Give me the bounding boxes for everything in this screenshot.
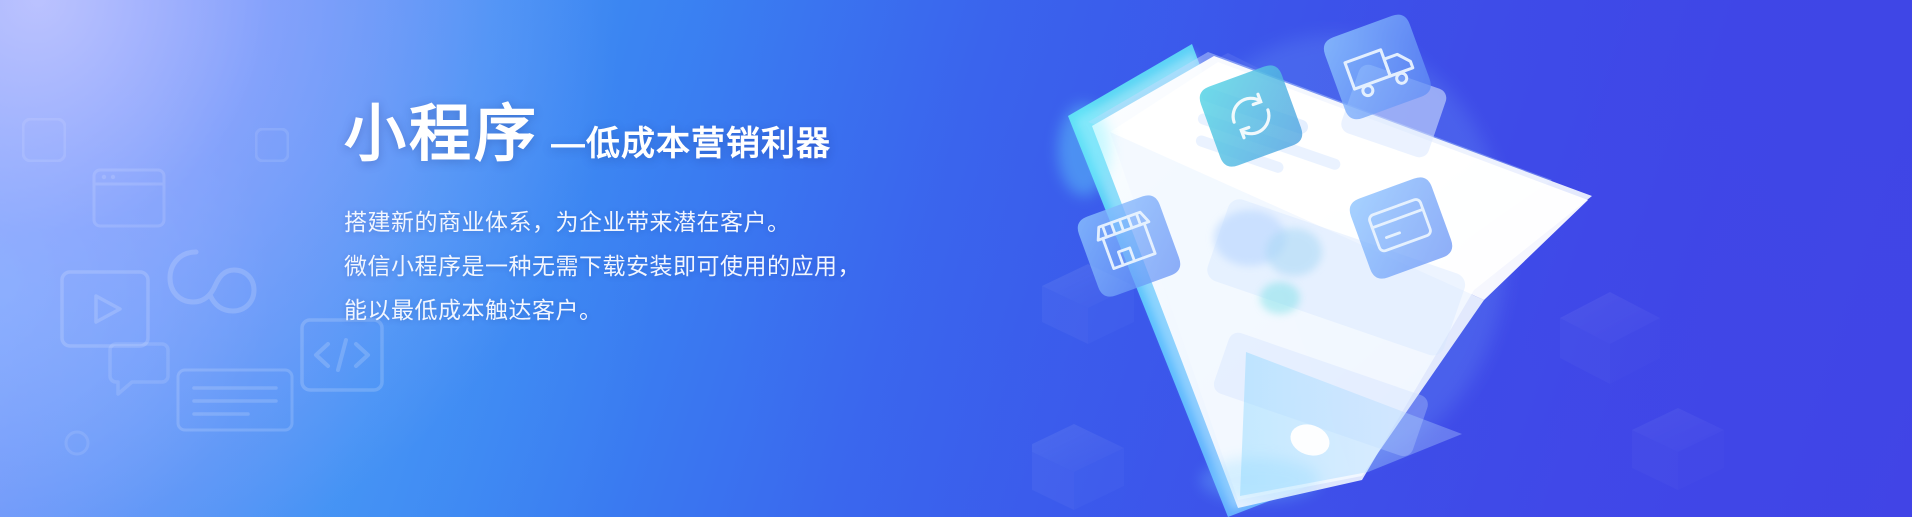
description-line: 搭建新的商业体系，为企业带来潜在客户。 — [344, 200, 964, 244]
description-line: 微信小程序是一种无需下载安装即可使用的应用， — [344, 244, 964, 288]
decorative-cube — [1632, 408, 1724, 490]
screen-content — [1194, 62, 1449, 174]
screen-content — [1211, 330, 1430, 459]
decorative-cube — [1560, 292, 1660, 384]
video-card-icon — [60, 270, 150, 348]
decorative-dot-icon — [64, 430, 90, 456]
card-receipt-icon — [1346, 174, 1456, 282]
decorative-square-icon — [22, 118, 66, 162]
title-main: 小程序 — [344, 104, 539, 166]
list-lines-icon — [176, 368, 294, 432]
mini-program-logo-icon — [152, 218, 272, 338]
storefront-icon — [1074, 192, 1184, 300]
description-line: 能以最低成本触达客户。 — [344, 288, 964, 332]
title-subtitle: —低成本营销利器 — [551, 127, 831, 166]
banner-copy: 小程序 —低成本营销利器 搭建新的商业体系，为企业带来潜在客户。 微信小程序是一… — [344, 104, 964, 332]
decorative-cube — [1190, 53, 1266, 122]
window-panel-icon — [92, 168, 166, 228]
hero-banner: 小程序 —低成本营销利器 搭建新的商业体系，为企业带来潜在客户。 微信小程序是一… — [0, 0, 1912, 517]
screen-content — [1204, 196, 1468, 359]
chat-bubble-icon — [104, 340, 174, 402]
refresh-sync-icon — [1196, 62, 1306, 170]
decorative-cube — [1042, 264, 1134, 344]
page-title: 小程序 —低成本营销利器 — [344, 104, 964, 166]
banner-description: 搭建新的商业体系，为企业带来潜在客户。 微信小程序是一种无需下载安装即可使用的应… — [344, 200, 964, 332]
delivery-truck-icon — [1320, 11, 1434, 123]
phone-illustration — [1032, 0, 1912, 517]
decorative-square-icon — [255, 128, 289, 162]
decorative-cube — [1032, 424, 1124, 510]
